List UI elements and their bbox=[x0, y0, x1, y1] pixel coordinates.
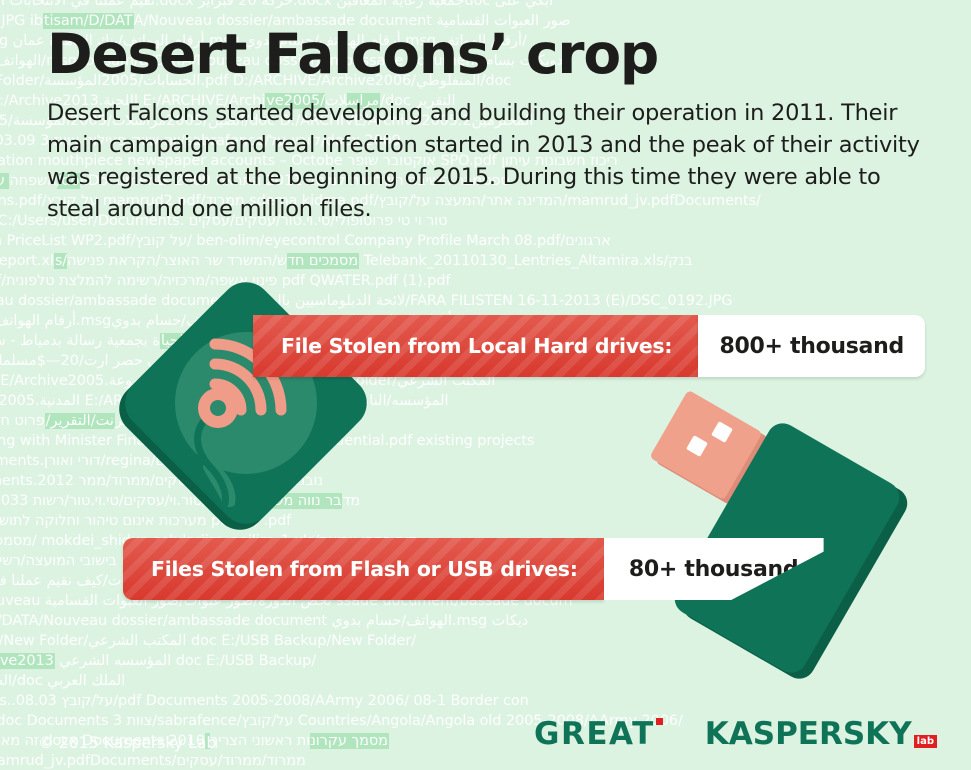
intro-paragraph: Desert Falcons started developing and bu… bbox=[47, 98, 927, 226]
background-text-highlight: מסמך עקרונ bbox=[205, 733, 389, 749]
great-logo-dot-icon bbox=[656, 718, 663, 725]
background-text-line: financialReport.xls/מסמכים חדש/המשרד שר … bbox=[0, 254, 971, 269]
footer-logos: GREAT KASPERSKY lab bbox=[534, 716, 937, 752]
stat-value-local-hard-drives: 800+ thousand bbox=[698, 315, 925, 377]
background-text-highlight: Archive2013 bbox=[0, 653, 55, 669]
background-text-line: sabrafence/Sabra PriceList WP2.pdf/על קו… bbox=[0, 234, 946, 249]
kaspersky-logo: KASPERSKY lab bbox=[705, 716, 937, 752]
header: Desert Falcons’ crop Desert Falcons star… bbox=[47, 26, 947, 226]
stat-row-flash-usb-drives: Files Stolen from Flash or USB drives: 8… bbox=[123, 538, 824, 600]
page-title: Desert Falcons’ crop bbox=[47, 26, 947, 84]
background-text-highlight: نت/التقرير/ bbox=[45, 413, 115, 429]
stat-label-flash-usb-drives: Files Stolen from Flash or USB drives: bbox=[123, 538, 604, 600]
background-text-line: BROCHURE.pdf/פינוי אשפה/מרכזיה/רשימה להמ… bbox=[0, 274, 962, 289]
kaspersky-lab-badge: lab bbox=[914, 735, 937, 748]
stat-value-flash-usb-drives: 80+ thousand bbox=[604, 538, 824, 600]
background-text-line: ממרוד/קובץ/mamrud_jv.pdfDocuments/ממרוד/… bbox=[0, 754, 971, 769]
stat-row-local-hard-drives: File Stolen from Local Hard drives: 800+… bbox=[253, 315, 925, 377]
background-text-highlight: s/מסמכים חד bbox=[54, 253, 359, 269]
infographic-canvas: نقيم عملنا في الانتخابات الحركية.docx حر… bbox=[0, 0, 971, 770]
background-text-line: نقيم عملنا في الانتخابات الحركية.docx حر… bbox=[0, 0, 971, 9]
kaspersky-logo-text: KASPERSKY bbox=[705, 716, 912, 752]
great-logo-text: GREAT bbox=[534, 716, 655, 752]
copyright-text: © 2015 Kaspersky Lab bbox=[38, 733, 216, 752]
great-logo: GREAT bbox=[534, 716, 663, 752]
stat-label-local-hard-drives: File Stolen from Local Hard drives: bbox=[253, 315, 698, 377]
background-text-line: Documents..08.03 על/קובץ/pdf Documents 2… bbox=[0, 694, 971, 709]
